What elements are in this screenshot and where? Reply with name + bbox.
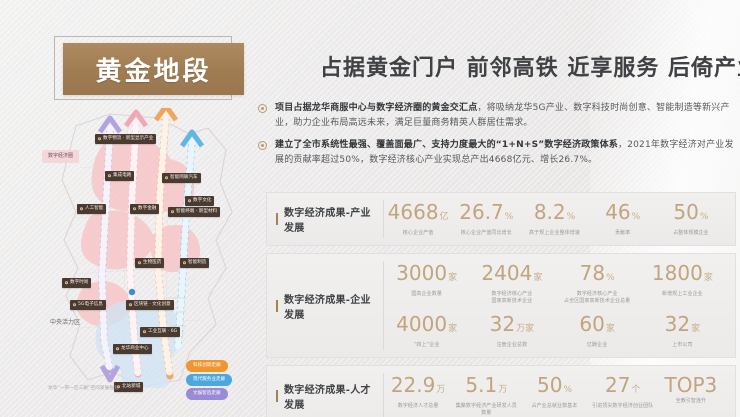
stat-value: TOP3 bbox=[659, 374, 723, 396]
map-node-tag[interactable]: 智能终端 · 新型材料 bbox=[168, 207, 220, 217]
stat-sublabel: 高于规上企业整体增速 bbox=[522, 230, 586, 237]
map-illustration: 数字经济圈中央活力区数字物流 · 新型显示产业集成电路智能网联汽车数字文化人工智… bbox=[40, 108, 262, 388]
stat-sublabel: 引进顶尖数字经济创业团队 bbox=[591, 403, 655, 410]
bullet-list: 项目占据龙华商服中心与数字经济圈的黄金交汇点，将吸纳龙华5G产业、数字科技时尚创… bbox=[258, 101, 736, 175]
map-node-tag[interactable]: 5G电子信息 bbox=[70, 300, 106, 310]
badge-box: 黄金地段 bbox=[63, 43, 244, 95]
stat-sublabel: “四上”企业 bbox=[386, 342, 467, 349]
stat-item: 26.7%核心企业产值同比增长 bbox=[452, 200, 520, 238]
stat-unit: 家 bbox=[448, 273, 457, 283]
section-badge: 黄金地段 bbox=[54, 36, 244, 104]
station-dot-icon bbox=[129, 289, 135, 295]
stat-row: 3000家国高企业数量2404家数字经济核心产业国家高新技术企业78%数字经济核… bbox=[384, 261, 725, 306]
stat-value: 50% bbox=[659, 201, 723, 228]
stat-unit: 家 bbox=[704, 273, 713, 283]
stat-item: 4668亿核心企业产值 bbox=[384, 200, 452, 238]
stat-sublabel: 占整体规模企业 bbox=[659, 230, 723, 237]
stat-value: 2404家 bbox=[471, 262, 552, 289]
map-node-tag[interactable]: 工业互联 · 6G bbox=[140, 327, 180, 337]
stat-value: 3000家 bbox=[386, 262, 467, 289]
map-area-tag: 数字经济圈 bbox=[42, 150, 79, 163]
stat-unit: 万 bbox=[436, 385, 445, 395]
stat-card: 数字经济成果-产业发展4668亿核心企业产值26.7%核心企业产值同比增长8.2… bbox=[266, 192, 736, 246]
accent-bar bbox=[276, 300, 278, 312]
stat-row: 22.9万数字经济人才总量5.1万集聚数字经济产业研发人员数量50%占产业总就业… bbox=[384, 373, 725, 417]
stat-sublabel: 全教引智连升 bbox=[659, 398, 723, 405]
stat-card-list: 数字经济成果-产业发展4668亿核心企业产值26.7%核心企业产值同比增长8.2… bbox=[266, 192, 736, 417]
stat-unit: % bbox=[563, 385, 572, 395]
stat-card: 数字经济成果-企业发展3000家国高企业数量2404家数字经济核心产业国家高新技… bbox=[266, 253, 736, 358]
stat-sublabel: 数字经济核心产业国家高新技术企业 bbox=[471, 291, 552, 305]
bullet-strong: 项目占据龙华商服中心与数字经济圈的黄金交汇点 bbox=[275, 103, 477, 113]
stat-sublabel: 数字经济人才总量 bbox=[386, 403, 450, 410]
stat-value: 1800家 bbox=[642, 262, 723, 289]
stat-unit: 亿 bbox=[440, 212, 449, 222]
stat-item: 50%占整体规模企业 bbox=[657, 200, 725, 238]
map-node-tag[interactable]: 数字文化 bbox=[185, 196, 214, 206]
stat-item: 60家亿酬企业 bbox=[555, 312, 640, 350]
stat-value: 5.1万 bbox=[454, 374, 518, 401]
map-node-tag[interactable]: 数字时尚 bbox=[62, 278, 91, 288]
stat-card-title: 数字经济成果-企业发展 bbox=[284, 291, 375, 321]
badge-label: 黄金地段 bbox=[95, 51, 211, 88]
stat-item: 32家上市公司 bbox=[640, 312, 725, 350]
stat-unit: 万家 bbox=[516, 324, 534, 334]
stat-sublabel: 数字经济核心产业占全区国家高新技术企业总量 bbox=[557, 291, 638, 305]
stat-sublabel: 亿酬企业 bbox=[557, 342, 638, 349]
stat-card-title: 数字经济成果-人才发展 bbox=[284, 381, 375, 411]
stat-sublabel: 占产业总就业数基本 bbox=[522, 403, 586, 410]
stat-unit: 家 bbox=[691, 324, 700, 334]
bullet-text: 建立了全市系统性最强、覆盖面最广、支持力度最大的“1+N+S”数字经济政策体系，… bbox=[275, 138, 736, 168]
stat-item: 1800家新增规上工业企业 bbox=[640, 261, 725, 299]
stat-card-label: 数字经济成果-企业发展 bbox=[276, 261, 384, 350]
map-area-tag: 中央活力区 bbox=[44, 316, 86, 329]
stat-unit: % bbox=[606, 273, 615, 283]
stat-item: 46%贡献率 bbox=[589, 200, 657, 238]
stat-value: 46% bbox=[591, 201, 655, 228]
accent-bar bbox=[276, 213, 278, 225]
stat-value: 32家 bbox=[642, 313, 723, 340]
stat-unit: 家 bbox=[606, 324, 615, 334]
stat-sublabel: 核心企业产值同比增长 bbox=[454, 230, 518, 237]
stat-value: 26.7% bbox=[454, 201, 518, 228]
bullet-text: 项目占据龙华商服中心与数字经济圈的黄金交汇点，将吸纳龙华5G产业、数字科技时尚创… bbox=[275, 101, 736, 131]
map-node-tag[interactable]: 龙华商业中心 bbox=[113, 344, 152, 354]
map-legend-tag: 科技创新走廊 bbox=[186, 360, 228, 372]
stat-value: 22.9万 bbox=[386, 374, 450, 401]
stat-value: 78% bbox=[557, 262, 638, 289]
stat-item: 27个引进顶尖数字经济创业团队 bbox=[589, 373, 657, 411]
stat-sublabel: 新增规上工业企业 bbox=[642, 291, 723, 298]
map-node-tag[interactable]: 智能网联汽车 bbox=[162, 173, 201, 183]
stat-group: 4668亿核心企业产值26.7%核心企业产值同比增长8.2%高于规上企业整体增速… bbox=[384, 200, 725, 238]
list-item: 建立了全市系统性最强、覆盖面最广、支持力度最大的“1+N+S”数字经济政策体系，… bbox=[258, 138, 736, 168]
stat-unit: 个 bbox=[631, 385, 640, 395]
page-title: 占据黄金门户 前邻高铁 近享服务 后倚产业 bbox=[320, 50, 730, 82]
map-node-tag[interactable]: 生物医药 bbox=[135, 258, 164, 268]
stat-row: 4000家“四上”企业32万家注册企业总数60家亿酬企业32家上市公司 bbox=[384, 312, 725, 350]
map-node-tag[interactable]: 集成电路 bbox=[105, 171, 134, 181]
stat-card-label: 数字经济成果-人才发展 bbox=[276, 373, 384, 417]
stat-row: 4668亿核心企业产值26.7%核心企业产值同比增长8.2%高于规上企业整体增速… bbox=[384, 200, 725, 238]
stat-sublabel: 上市公司 bbox=[642, 342, 723, 349]
stat-sublabel: 集聚数字经济产业研发人员数量 bbox=[454, 403, 518, 417]
map-caption: 龙华“一带一区三廊”空间发展规划 bbox=[48, 385, 119, 391]
accent-bar bbox=[276, 390, 278, 402]
stat-group: 22.9万数字经济人才总量5.1万集聚数字经济产业研发人员数量50%占产业总就业… bbox=[384, 373, 725, 417]
stat-group: 3000家国高企业数量2404家数字经济核心产业国家高新技术企业78%数字经济核… bbox=[384, 261, 725, 350]
stat-item: 78%数字经济核心产业占全区国家高新技术企业总量 bbox=[555, 261, 640, 306]
stat-unit: % bbox=[700, 212, 709, 222]
bullet-circle-icon bbox=[258, 141, 267, 150]
list-item: 项目占据龙华商服中心与数字经济圈的黄金交汇点，将吸纳龙华5G产业、数字科技时尚创… bbox=[258, 101, 736, 131]
map-legend-tag: 文娱智造走廊 bbox=[186, 388, 228, 400]
map-node-tag[interactable]: 人工智能 bbox=[77, 204, 106, 214]
stat-item: 8.2%高于规上企业整体增速 bbox=[520, 200, 588, 238]
map-node-tag[interactable]: 区块链 · 文化创意 bbox=[126, 300, 174, 310]
stat-value: 32万家 bbox=[471, 313, 552, 340]
map-legend-tag: 现代服务业走廊 bbox=[186, 374, 232, 386]
stat-item: 22.9万数字经济人才总量 bbox=[384, 373, 452, 411]
stat-unit: % bbox=[505, 212, 514, 222]
stat-unit: % bbox=[632, 212, 641, 222]
stat-card-title: 数字经济成果-产业发展 bbox=[284, 204, 375, 234]
stat-item: TOP3全教引智连升 bbox=[657, 373, 725, 406]
stat-sublabel: 注册企业总数 bbox=[471, 342, 552, 349]
stat-card-label: 数字经济成果-产业发展 bbox=[276, 200, 384, 238]
stat-value: 60家 bbox=[557, 313, 638, 340]
stat-unit: % bbox=[567, 212, 576, 222]
stat-sublabel: 核心企业产值 bbox=[386, 230, 450, 237]
stat-item: 5.1万集聚数字经济产业研发人员数量 bbox=[452, 373, 520, 417]
stat-item: 3000家国高企业数量 bbox=[384, 261, 469, 299]
stat-unit: 家 bbox=[533, 273, 542, 283]
stat-item: 2404家数字经济核心产业国家高新技术企业 bbox=[469, 261, 554, 306]
bullet-strong: 建立了全市系统性最强、覆盖面最广、支持力度最大的“1+N+S”数字经济政策体系 bbox=[275, 140, 618, 150]
stat-sublabel: 贡献率 bbox=[591, 230, 655, 237]
bullet-circle-icon bbox=[258, 104, 267, 113]
map-node-tag[interactable]: 数字金融 bbox=[130, 204, 159, 214]
stat-unit: 家 bbox=[448, 324, 457, 334]
stat-item: 32万家注册企业总数 bbox=[469, 312, 554, 350]
stat-value: 4668亿 bbox=[386, 201, 450, 228]
stat-value: 50% bbox=[522, 374, 586, 401]
stat-value: 4000家 bbox=[386, 313, 467, 340]
slide-root: 黄金地段 占据黄金门户 前邻高铁 近享服务 后倚产业 项目占据龙华商服中心与数字… bbox=[0, 0, 740, 417]
stat-value: 27个 bbox=[591, 374, 655, 401]
stat-item: 4000家“四上”企业 bbox=[384, 312, 469, 350]
stat-value: 8.2% bbox=[522, 201, 586, 228]
stat-unit: 万 bbox=[498, 385, 507, 395]
stat-card: 数字经济成果-人才发展22.9万数字经济人才总量5.1万集聚数字经济产业研发人员… bbox=[266, 365, 736, 417]
map-node-tag[interactable]: 智能制造 bbox=[180, 258, 209, 268]
map-node-tag[interactable]: 数字物流 · 新型显示产业 bbox=[95, 134, 156, 144]
stat-item: 50%占产业总就业数基本 bbox=[520, 373, 588, 411]
stat-sublabel: 国高企业数量 bbox=[386, 291, 467, 298]
